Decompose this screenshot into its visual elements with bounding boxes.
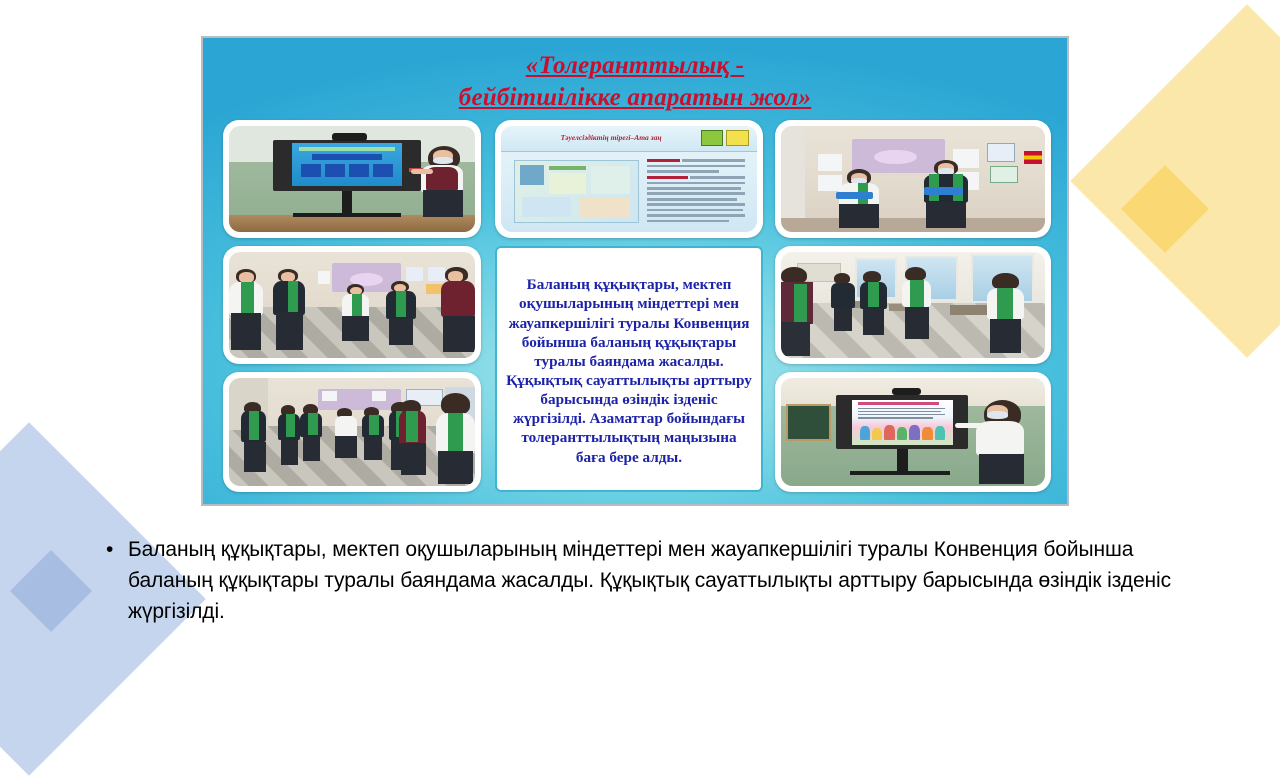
- flag-graphic: [1024, 151, 1042, 164]
- cartoon-child: [860, 426, 870, 441]
- student-sash: [396, 291, 406, 316]
- cartoon-child: [897, 427, 907, 441]
- student-lower: [781, 322, 810, 356]
- student-lower: [303, 437, 320, 461]
- slide-screenshot-scene: Тәуелсіздіктің тірегі–Ата заң: [501, 126, 757, 232]
- student-sash: [369, 415, 379, 436]
- photo-presentation-slide: Тәуелсіздіктің тірегі–Ата заң: [495, 120, 763, 238]
- photo-frame-inner: [781, 126, 1045, 232]
- slide-text-column: [647, 158, 749, 226]
- photo-two-students-with-folders: [775, 120, 1051, 238]
- display-oval: [874, 150, 916, 165]
- student-lower: [281, 440, 298, 466]
- student-lower: [863, 309, 884, 334]
- slide-text-line: [647, 176, 688, 179]
- slide-text-line: [647, 209, 743, 212]
- collage-title-line-1: «Толеранттылық -: [203, 50, 1067, 82]
- student-a-folder: [836, 192, 873, 199]
- board-stand-base: [293, 213, 401, 217]
- student-lower: [443, 316, 475, 352]
- screen-line: [858, 417, 932, 418]
- slide-text-line: [682, 159, 745, 162]
- student-arm: [411, 169, 433, 173]
- wall-display-scene: [781, 126, 1045, 232]
- cartoon-child: [922, 427, 932, 441]
- presenter-mask: [987, 411, 1008, 419]
- student-lower: [834, 308, 852, 331]
- student-lower: [905, 307, 929, 339]
- screen-title-bar: [312, 154, 382, 160]
- wall-paper: [318, 271, 330, 284]
- wall-paper: [428, 267, 445, 281]
- student-b-folder: [924, 187, 964, 194]
- book-col-4: [579, 197, 631, 218]
- student-lower: [244, 442, 266, 472]
- slide-text-line: [647, 187, 741, 190]
- cartoon-child: [884, 425, 895, 440]
- slide-text-line: [647, 220, 729, 223]
- slide-body-text: • Баланың құқықтары, мектеп оқушыларының…: [100, 534, 1222, 627]
- wide-corridor-scene: [229, 378, 475, 486]
- student-hair: [905, 267, 926, 281]
- cartoon-child: [935, 426, 945, 441]
- photo-student-at-smartboard: [223, 120, 481, 238]
- student-sash: [910, 280, 923, 308]
- presenter-skirt: [979, 454, 1024, 484]
- student-sash: [308, 413, 318, 436]
- wall-paper: [406, 267, 423, 281]
- blue-dark-diamond-decoration: [10, 550, 92, 632]
- smartboard-screen: [292, 143, 401, 186]
- side-wall: [781, 126, 805, 232]
- student-b-trousers: [926, 202, 966, 227]
- screen-line: [858, 408, 944, 409]
- screen-title: [858, 402, 938, 405]
- photo-students-in-hall: [775, 246, 1051, 364]
- collage-title: «Толеранттылық - бейбітшілікке апаратын …: [203, 50, 1067, 114]
- book-photo-inset: [520, 165, 545, 186]
- bright-hall-scene: [781, 252, 1045, 358]
- student-hair: [441, 393, 471, 415]
- bullet-item: • Баланың құқықтары, мектеп оқушыларының…: [100, 534, 1222, 627]
- book-line-a: [549, 166, 586, 170]
- student-lower: [231, 313, 261, 349]
- screen-card-1: [301, 164, 321, 177]
- slide-heading: Тәуелсіздіктің тірегі–Ата заң: [532, 131, 691, 146]
- photo-frame-inner: Тәуелсіздіктің тірегі–Ата заң: [501, 126, 757, 232]
- yellow-dark-diamond-decoration: [1121, 165, 1209, 253]
- book-col-2: [591, 166, 630, 194]
- smartboard-frame: [273, 140, 421, 191]
- screen-card-4: [373, 164, 393, 177]
- wood-floor: [229, 215, 475, 232]
- slide-text-line: [647, 165, 745, 168]
- wall-hex-frame: [987, 143, 1015, 162]
- student-suit: [831, 283, 855, 308]
- photo-frame-inner: [229, 252, 475, 358]
- collage-center-text-box: Баланың құқықтары, мектеп оқушыларының м…: [495, 246, 763, 492]
- slide-text-line: [647, 214, 745, 217]
- bullet-marker: •: [100, 534, 128, 565]
- board-camera: [332, 133, 366, 140]
- collage-title-line-2: бейбітшілікке апаратын жол»: [203, 82, 1067, 114]
- book-col-1: [549, 173, 586, 194]
- slide-text-line: [647, 182, 745, 185]
- student-mask: [433, 157, 453, 164]
- student-sash: [868, 282, 879, 307]
- open-book-image: [514, 160, 639, 223]
- student-sash: [286, 414, 296, 438]
- corridor-scene: [229, 252, 475, 358]
- student-sash: [249, 411, 259, 439]
- photo-frame-inner: [229, 126, 475, 232]
- student-lower: [389, 318, 414, 346]
- slide-logo-left: [701, 130, 723, 146]
- student-shirt: [335, 416, 357, 438]
- student-lower: [276, 313, 303, 349]
- smartboard-frame: [836, 395, 968, 449]
- student-lower: [438, 451, 472, 483]
- student-vest: [441, 281, 475, 317]
- student-lower: [335, 436, 357, 458]
- student-skirt: [423, 190, 462, 218]
- student-a-skirt: [839, 204, 879, 227]
- student-lower: [342, 316, 369, 341]
- bullet-paragraph: Баланың құқықтары, мектеп оқушыларының м…: [128, 534, 1222, 627]
- purple-display-board: [852, 139, 944, 173]
- wall-paper: [322, 391, 337, 401]
- student-sash: [997, 288, 1013, 320]
- wall-paper: [372, 391, 387, 401]
- photo-students-in-corridor: [223, 246, 481, 364]
- slide-text-line: [647, 198, 737, 201]
- photo-frame-inner: [781, 252, 1045, 358]
- presenter-arm: [955, 423, 984, 427]
- floor-strip: [781, 218, 1045, 232]
- board-stand-base: [850, 471, 950, 475]
- slide-text-line: [647, 159, 680, 162]
- slide-logo-right: [726, 130, 748, 146]
- yellow-medium-diamond-decoration: [1142, 180, 1252, 290]
- slide-text-line: [647, 170, 719, 173]
- screen-card-3: [349, 164, 369, 177]
- classroom-board-scene: [781, 378, 1045, 486]
- board-stand-pole: [897, 449, 908, 473]
- slide-text-line: [690, 176, 745, 179]
- photo-frame-inner: [781, 378, 1045, 486]
- student-lower: [990, 319, 1022, 353]
- slide-text-line: [647, 192, 745, 195]
- classroom-scene: [229, 126, 475, 232]
- wall-frame: [990, 166, 1018, 183]
- collage-center-text: Баланың құқықтары, мектеп оқушыларының м…: [505, 275, 753, 466]
- student-sash: [448, 413, 463, 452]
- student-sash: [241, 282, 253, 314]
- student-sash: [288, 281, 298, 313]
- smartboard-screen: [852, 400, 952, 445]
- cartoon-child: [872, 428, 882, 441]
- yellow-large-diamond-decoration: [1070, 4, 1280, 358]
- screen-line: [858, 414, 944, 415]
- wall-paper: [818, 154, 842, 171]
- photo-students-wide-corridor: [223, 372, 481, 492]
- photo-frame-inner: [229, 378, 475, 486]
- slide-text-line: [647, 203, 745, 206]
- photo-collage: «Толеранттылық - бейбітшілікке апаратын …: [201, 36, 1069, 506]
- student-lower: [401, 443, 426, 475]
- screen-line: [858, 411, 940, 412]
- chalkboard: [786, 404, 831, 441]
- student-sash: [794, 284, 807, 324]
- student-sash: [406, 411, 418, 441]
- book-col-3: [522, 197, 571, 218]
- photo-student-presenting-board: [775, 372, 1051, 492]
- cartoon-child: [909, 425, 920, 441]
- screen-card-2: [325, 164, 345, 177]
- board-camera: [892, 388, 921, 396]
- screen-banner: [299, 147, 395, 152]
- student-sash: [352, 294, 362, 315]
- student-lower: [364, 437, 381, 460]
